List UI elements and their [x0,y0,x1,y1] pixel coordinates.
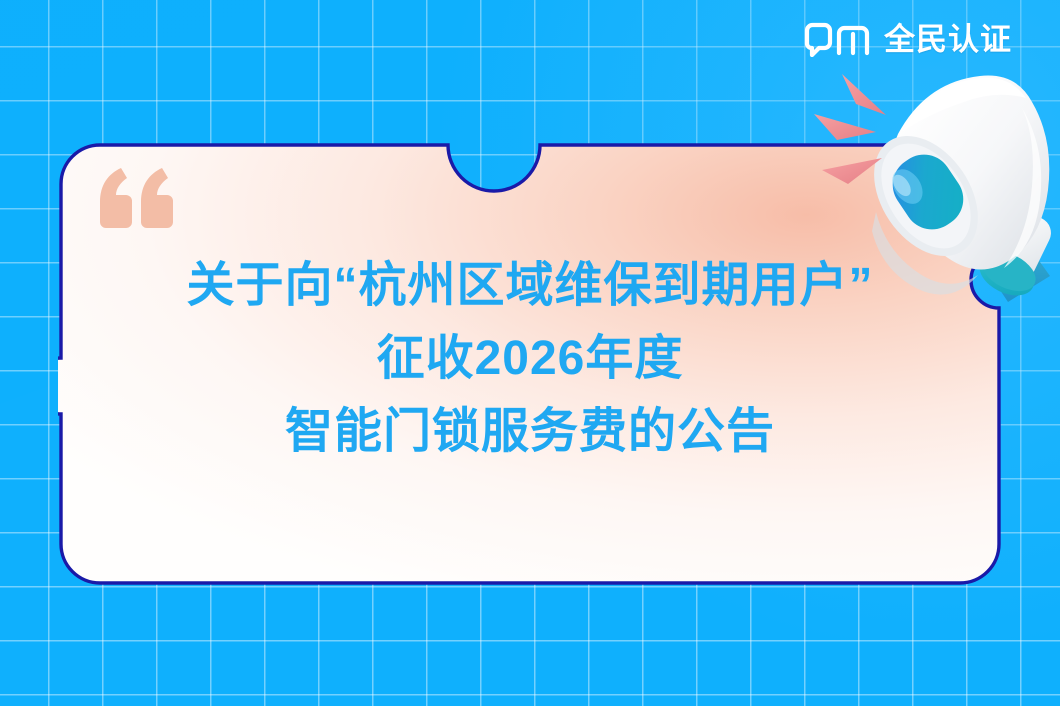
title-line-2: 征收2026年度 [58,323,1002,396]
qm-monogram-icon [803,21,871,57]
brand-name: 全民认证 [884,24,1012,55]
brand-logo: 全民认证 [803,21,1012,57]
announcement-card: 关于向“杭州区域维保到期用户” 征收2026年度 智能门锁服务费的公告 [58,142,1002,586]
page-title: 关于向“杭州区域维保到期用户” 征收2026年度 智能门锁服务费的公告 [58,250,1002,469]
title-line-3: 智能门锁服务费的公告 [58,396,1002,469]
title-line-1: 关于向“杭州区域维保到期用户” [58,250,1002,323]
left-double-quote-icon [92,164,180,236]
announcement-poster: 全民认证 [0,0,1060,706]
